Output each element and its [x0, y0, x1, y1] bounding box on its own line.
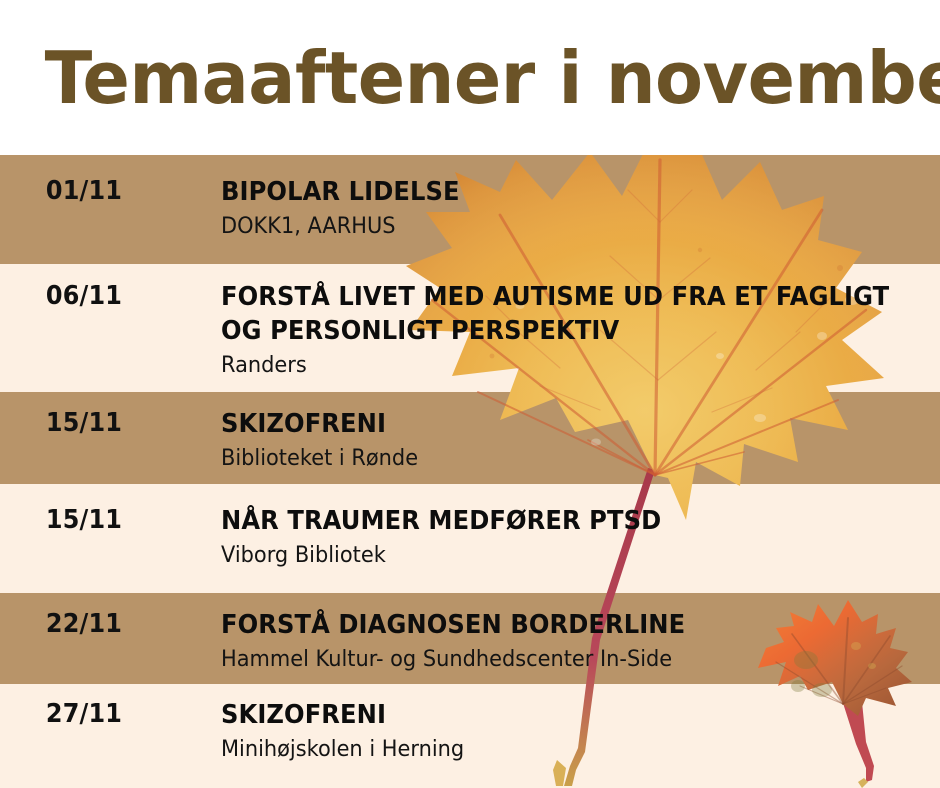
event-title: NÅR TRAUMER MEDFØRER PTSD — [221, 505, 890, 539]
event-title: BIPOLAR LIDELSE — [221, 176, 890, 210]
event-details: SKIZOFRENI Biblioteket i Rønde — [168, 408, 940, 473]
event-venue: Viborg Bibliotek — [221, 541, 904, 570]
event-details: BIPOLAR LIDELSE DOKK1, AARHUS — [168, 176, 940, 241]
event-venue: Hammel Kultur- og Sundhedscenter In-Side — [221, 645, 904, 674]
event-details: NÅR TRAUMER MEDFØRER PTSD Viborg Bibliot… — [168, 505, 940, 570]
event-date: 27/11 — [7, 699, 162, 729]
event-date: 15/11 — [7, 408, 162, 438]
event-title: SKIZOFRENI — [221, 408, 890, 442]
schedule-row[interactable]: 27/11 SKIZOFRENI Minihøjskolen i Herning — [0, 699, 940, 764]
event-venue: Biblioteket i Rønde — [221, 444, 904, 473]
event-title: SKIZOFRENI — [221, 699, 890, 733]
event-date: 15/11 — [7, 505, 162, 535]
schedule-row[interactable]: 22/11 FORSTÅ DIAGNOSEN BORDERLINE Hammel… — [0, 609, 940, 674]
event-details: FORSTÅ LIVET MED AUTISME UD FRA ET FAGLI… — [168, 281, 940, 380]
schedule-row[interactable]: 06/11 FORSTÅ LIVET MED AUTISME UD FRA ET… — [0, 281, 940, 380]
event-title: FORSTÅ LIVET MED AUTISME UD FRA ET FAGLI… — [221, 281, 890, 349]
event-details: SKIZOFRENI Minihøjskolen i Herning — [168, 699, 940, 764]
poster: Temaaftener i november 01/11 BIPOLAR LID… — [0, 0, 940, 788]
title-area: Temaaftener i november — [0, 0, 940, 155]
page-title: Temaaftener i november — [0, 42, 940, 114]
schedule-row[interactable]: 15/11 SKIZOFRENI Biblioteket i Rønde — [0, 408, 940, 473]
event-venue: Minihøjskolen i Herning — [221, 735, 904, 764]
event-details: FORSTÅ DIAGNOSEN BORDERLINE Hammel Kultu… — [168, 609, 940, 674]
event-date: 06/11 — [7, 281, 162, 311]
event-venue: Randers — [221, 351, 904, 380]
schedule-row[interactable]: 01/11 BIPOLAR LIDELSE DOKK1, AARHUS — [0, 176, 940, 241]
event-venue: DOKK1, AARHUS — [221, 212, 904, 241]
event-title: FORSTÅ DIAGNOSEN BORDERLINE — [221, 609, 890, 643]
event-date: 22/11 — [7, 609, 162, 639]
event-date: 01/11 — [7, 176, 162, 206]
schedule-row[interactable]: 15/11 NÅR TRAUMER MEDFØRER PTSD Viborg B… — [0, 505, 940, 570]
